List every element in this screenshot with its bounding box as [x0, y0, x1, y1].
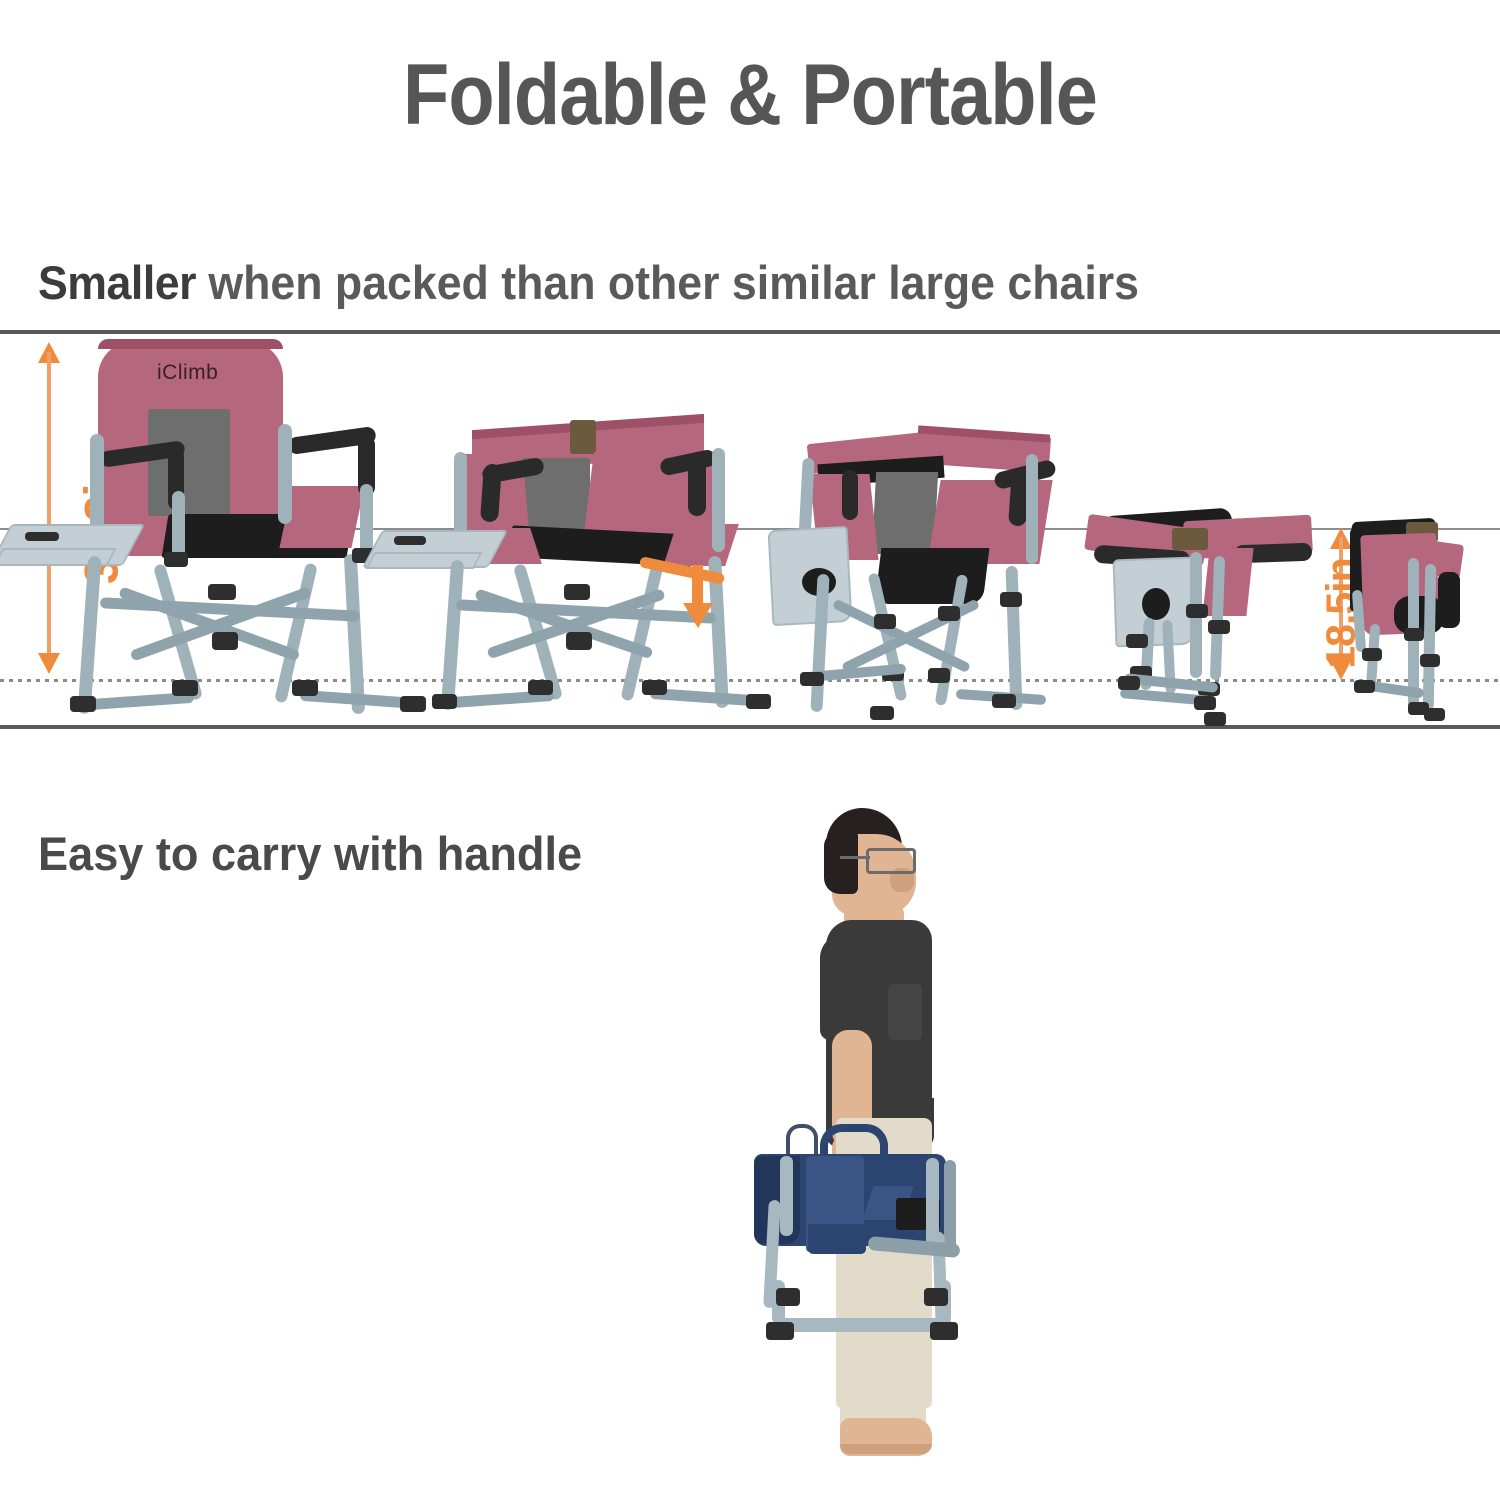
chair-stage-open: iClimb: [60, 336, 430, 736]
foot-a: [1354, 680, 1375, 693]
bag-flap: [808, 1224, 866, 1254]
hair-back: [824, 832, 858, 894]
hinge-c: [1000, 592, 1022, 607]
chair-back-top-edge: [98, 339, 283, 349]
frame-tube-right-b: [944, 1160, 956, 1256]
foot-left-front: [172, 680, 198, 696]
hinge-b: [1420, 654, 1440, 667]
hinge-a: [1404, 628, 1424, 641]
arrow-shaft: [692, 565, 703, 607]
brace-joint-center: [564, 584, 590, 600]
chair-seat-side: [279, 486, 364, 548]
hinge-e: [928, 668, 950, 683]
table-clip: [25, 532, 59, 541]
frame-post-right: [712, 448, 725, 552]
armpad-far: [1438, 572, 1460, 628]
packed-section-heading: Smaller when packed than other similar l…: [38, 255, 1139, 310]
leg-front-right: [1005, 566, 1022, 710]
foot-right-front: [642, 680, 667, 695]
foot-a: [1118, 676, 1140, 690]
foot-left-rear: [70, 696, 96, 712]
infographic-page: Foldable & Portable Smaller when packed …: [0, 0, 1500, 1500]
arrow-head: [683, 603, 713, 628]
foot-mid: [870, 706, 894, 720]
fabric-body: [1202, 548, 1253, 616]
chair-stage-4: [1086, 500, 1316, 732]
chair-mesh-panel: [148, 409, 230, 516]
brand-label: iClimb: [157, 361, 218, 385]
page-title: Foldable & Portable: [90, 46, 1410, 145]
leg-front-left: [78, 556, 102, 715]
tshirt-graphic: [888, 984, 922, 1040]
foot-left: [800, 672, 824, 686]
seat-skirt-right: [663, 524, 739, 566]
foot-c: [1424, 708, 1445, 721]
hinge-a: [874, 614, 896, 629]
foot-cap-right: [924, 1288, 948, 1306]
foot-right-rear: [746, 694, 771, 709]
leg-front-right: [344, 554, 365, 714]
foot-cap-left: [776, 1288, 800, 1306]
foot-right-front: [292, 680, 318, 696]
mesh-panel: [872, 472, 938, 554]
brace-joint-center: [208, 584, 236, 600]
foot-c: [1204, 712, 1226, 726]
brace-joint-lower: [212, 632, 238, 650]
strap-buckle: [1172, 528, 1208, 550]
chair-stage-folded: [1346, 516, 1484, 732]
hinge-a: [1186, 604, 1208, 618]
hinge-c: [1362, 648, 1382, 661]
packed-heading-strong: Smaller: [38, 256, 196, 309]
side-table-edge: [365, 552, 482, 569]
leg-front-left: [441, 560, 464, 711]
hinge-c: [1126, 634, 1148, 648]
carry-section-heading: Easy to carry with handle: [38, 826, 582, 881]
foot-b: [1194, 696, 1216, 710]
folded-chair-blue: [748, 1140, 978, 1360]
foot-right: [992, 694, 1016, 708]
frame-post-right: [1026, 454, 1038, 564]
strap-buckle: [570, 420, 596, 454]
chair-stage-3: [778, 424, 1098, 736]
brace-joint-lower: [566, 632, 592, 650]
arrow-down-icon: [38, 653, 60, 674]
foot-left-rear: [432, 694, 457, 709]
table-clip: [394, 536, 426, 545]
armrest-left-post: [842, 470, 858, 520]
glasses-temple: [840, 852, 870, 859]
cup-holder-hole: [1142, 588, 1170, 620]
glasses-icon: [866, 848, 916, 874]
foot-rail: [772, 1318, 952, 1332]
seat-sag: [875, 548, 990, 604]
foot-left-front: [528, 680, 553, 695]
packed-heading-rest: when packed than other similar large cha…: [196, 256, 1139, 309]
foot-cap-rail-left: [766, 1322, 794, 1340]
hinge-b: [1208, 620, 1230, 634]
dimension-line: [47, 352, 51, 664]
frame-tube-left: [780, 1156, 793, 1236]
foot-cap-rail-right: [930, 1322, 958, 1340]
foot-shadow: [840, 1444, 932, 1454]
frame-post-b: [1423, 564, 1437, 710]
frame-back-right-post: [278, 424, 292, 524]
hinge-b: [938, 606, 960, 621]
dimension-open-height: 36.2in: [38, 342, 60, 674]
tshirt-sleeve: [820, 934, 872, 1040]
hinge-left: [164, 552, 188, 567]
divider-top: [0, 330, 1500, 334]
